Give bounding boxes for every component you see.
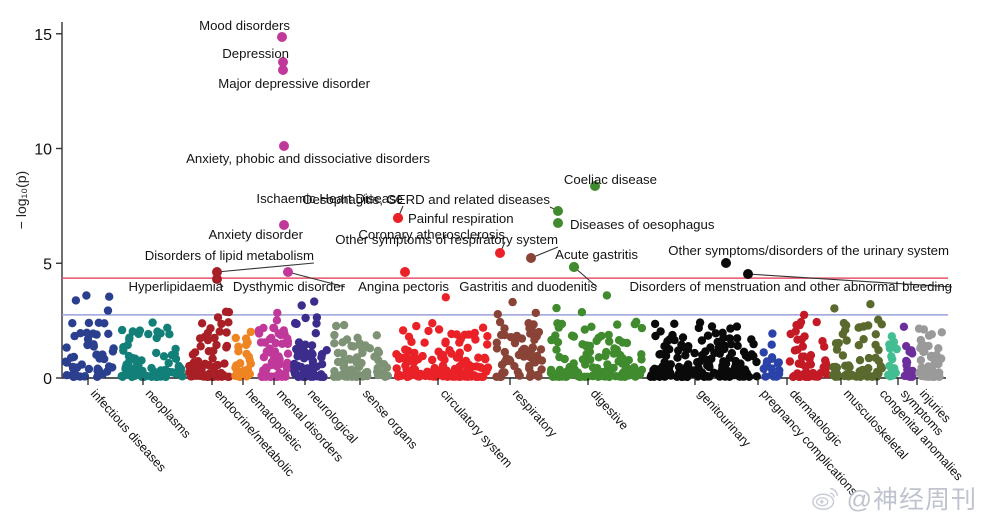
- data-point: [745, 373, 753, 381]
- category-points-pregnancy-complications: [760, 329, 784, 381]
- data-point: [885, 340, 893, 348]
- data-point: [294, 373, 302, 381]
- data-point: [334, 349, 342, 357]
- data-point: [673, 354, 681, 362]
- data-point: [309, 367, 317, 375]
- data-point: [257, 338, 265, 346]
- annotation-label-3: Anxiety, phobic and dissociative disorde…: [186, 151, 430, 166]
- data-point: [259, 324, 267, 332]
- data-point: [831, 363, 839, 371]
- y-tick-label: 0: [43, 371, 52, 388]
- annotation-label-11: Coronary atherosclerosis: [358, 227, 505, 242]
- category-points-hematopoietic: [231, 328, 255, 381]
- data-point: [363, 372, 371, 380]
- data-point: [301, 314, 309, 322]
- data-point: [78, 360, 86, 368]
- data-point: [877, 362, 885, 370]
- watermark: @神经周刊: [811, 480, 977, 516]
- data-point: [464, 344, 472, 352]
- data-point: [275, 329, 283, 337]
- data-point: [833, 345, 841, 353]
- data-point: [752, 358, 760, 366]
- data-point: [447, 330, 455, 338]
- annotated-data-point: [400, 267, 410, 277]
- data-point: [705, 361, 713, 369]
- data-point: [610, 344, 618, 352]
- data-point: [800, 311, 808, 319]
- data-point: [496, 318, 504, 326]
- data-point: [104, 306, 112, 314]
- data-point: [133, 360, 141, 368]
- data-point: [843, 370, 851, 378]
- data-point: [284, 350, 292, 358]
- annotation-label-6: Anxiety disorder: [208, 227, 303, 242]
- data-point: [171, 350, 179, 358]
- data-point: [437, 353, 445, 361]
- data-point: [310, 297, 318, 305]
- data-point: [554, 372, 562, 380]
- data-point: [856, 323, 864, 331]
- data-point: [525, 362, 533, 370]
- data-point: [330, 373, 338, 381]
- data-point: [428, 319, 436, 327]
- data-point: [675, 364, 683, 372]
- data-point: [558, 320, 566, 328]
- annotated-data-point: [721, 258, 731, 268]
- data-point: [583, 373, 591, 381]
- data-point: [152, 349, 160, 357]
- annotation-label-18: Gastritis and duodenitis: [459, 279, 597, 294]
- data-point: [839, 330, 847, 338]
- data-point: [415, 372, 423, 380]
- data-point: [552, 346, 560, 354]
- data-point: [768, 341, 776, 349]
- data-point: [93, 373, 101, 381]
- data-point: [797, 318, 805, 326]
- annotation-label-15: Hyperlipidaemia: [128, 279, 223, 294]
- data-point: [917, 356, 925, 364]
- annotated-data-point: [278, 65, 288, 75]
- data-point: [308, 350, 316, 358]
- data-point: [105, 293, 113, 301]
- annotated-data-point: [569, 262, 579, 272]
- data-point: [704, 332, 712, 340]
- data-point: [924, 342, 932, 350]
- data-point: [866, 300, 874, 308]
- data-point: [798, 353, 806, 361]
- category-points-endocrine-metabolic: [185, 308, 233, 381]
- data-point: [698, 368, 706, 376]
- data-point: [165, 330, 173, 338]
- data-point: [820, 343, 828, 351]
- data-point: [481, 355, 489, 363]
- category-points-genitourinary: [647, 318, 761, 381]
- data-point: [663, 337, 671, 345]
- data-point: [246, 370, 254, 378]
- data-point: [118, 373, 126, 381]
- annotation-label-5: Painful respiration: [408, 211, 514, 226]
- data-point: [284, 340, 292, 348]
- data-point: [148, 318, 156, 326]
- data-point: [625, 371, 633, 379]
- data-point: [472, 372, 480, 380]
- category-points-congenital-anomalies: [884, 332, 901, 380]
- annotation-label-13: Other symptoms/disorders of the urinary …: [668, 243, 949, 258]
- data-point: [405, 357, 413, 365]
- category-points-digestive: [547, 291, 646, 381]
- annotated-data-point: [277, 32, 287, 42]
- data-point: [661, 368, 669, 376]
- data-point: [500, 368, 508, 376]
- data-point: [281, 370, 289, 378]
- data-point: [501, 348, 509, 356]
- data-point: [273, 309, 281, 317]
- data-point: [266, 348, 274, 356]
- data-point: [206, 324, 214, 332]
- data-point: [291, 319, 299, 327]
- data-point: [578, 308, 586, 316]
- data-point: [916, 344, 924, 352]
- data-point: [323, 346, 331, 354]
- data-point: [196, 334, 204, 342]
- data-point: [124, 365, 132, 373]
- data-point: [435, 325, 443, 333]
- data-point: [605, 331, 613, 339]
- data-point: [734, 342, 742, 350]
- data-point: [728, 349, 736, 357]
- data-point: [138, 368, 146, 376]
- data-point: [601, 352, 609, 360]
- data-point: [125, 335, 133, 343]
- data-point: [90, 342, 98, 350]
- data-point: [105, 362, 113, 370]
- data-point: [616, 372, 624, 380]
- x-category-label-neoplasms: neoplasms: [143, 387, 194, 441]
- data-point: [775, 358, 783, 366]
- data-point: [679, 333, 687, 341]
- category-points-symptoms: [900, 323, 917, 381]
- annotation-label-7: Oesophagitis, GERD and related diseases: [302, 192, 550, 207]
- data-point: [670, 336, 678, 344]
- data-point: [348, 373, 356, 381]
- data-point: [862, 368, 870, 376]
- data-point: [222, 343, 230, 351]
- y-tick-label: 5: [43, 256, 52, 273]
- data-point: [893, 345, 901, 353]
- data-point: [623, 339, 631, 347]
- data-point: [374, 356, 382, 364]
- data-point: [418, 352, 426, 360]
- x-category-label-respiratory: respiratory: [510, 387, 560, 441]
- data-point: [410, 349, 418, 357]
- data-point: [70, 353, 78, 361]
- data-point: [85, 319, 93, 327]
- data-point: [576, 372, 584, 380]
- annotation-label-14: Disorders of lipid metabolism: [145, 248, 314, 263]
- data-point: [109, 344, 117, 352]
- y-axis-title: − log₁₀(p): [13, 171, 29, 229]
- data-point: [166, 368, 174, 376]
- data-point: [224, 373, 232, 381]
- data-point: [677, 341, 685, 349]
- data-point: [670, 320, 678, 328]
- data-point: [129, 327, 137, 335]
- annotated-data-point: [553, 218, 563, 228]
- data-point: [147, 373, 155, 381]
- data-point: [555, 353, 563, 361]
- data-point: [795, 373, 803, 381]
- annotated-data-point: [279, 141, 289, 151]
- manhattan-scatter-plot: 051015− log₁₀(p)infectious diseasesneopl…: [0, 0, 985, 522]
- data-point: [198, 319, 206, 327]
- data-point: [405, 372, 413, 380]
- data-point: [275, 355, 283, 363]
- data-point: [603, 291, 611, 299]
- data-point: [732, 357, 740, 365]
- data-point: [931, 358, 939, 366]
- data-point: [217, 320, 225, 328]
- data-point: [420, 339, 428, 347]
- data-point: [532, 309, 540, 317]
- data-point: [872, 330, 880, 338]
- data-point: [638, 324, 646, 332]
- weibo-logo-icon: [811, 483, 841, 513]
- category-points-musculoskeletal: [829, 300, 886, 381]
- data-point: [477, 364, 485, 372]
- x-category-label-circulatory-system: circulatory system: [438, 387, 515, 471]
- data-point: [442, 293, 450, 301]
- data-point: [786, 357, 794, 365]
- data-point: [424, 327, 432, 335]
- watermark-text: @神经周刊: [847, 480, 977, 516]
- data-point: [347, 342, 355, 350]
- data-point: [651, 320, 659, 328]
- data-point: [82, 291, 90, 299]
- data-point: [197, 342, 205, 350]
- data-point: [708, 322, 716, 330]
- data-point: [856, 356, 864, 364]
- data-point: [807, 351, 815, 359]
- annotation-label-1: Depression: [222, 46, 289, 61]
- data-point: [373, 331, 381, 339]
- annotation-label-12: Acute gastritis: [555, 247, 638, 262]
- data-point: [330, 339, 338, 347]
- data-point: [118, 326, 126, 334]
- data-point: [442, 370, 450, 378]
- data-point: [358, 349, 366, 357]
- data-point: [104, 330, 112, 338]
- data-point: [874, 346, 882, 354]
- data-point: [833, 370, 841, 378]
- data-point: [719, 357, 727, 365]
- x-category-label-sense-organs: sense organs: [360, 387, 421, 452]
- annotated-data-point: [495, 248, 505, 258]
- annotation-label-17: Angina pectoris: [358, 279, 449, 294]
- annotation-label-9: Diseases of oesophagus: [570, 217, 715, 232]
- data-point: [613, 320, 621, 328]
- data-point: [266, 373, 274, 381]
- data-point: [902, 342, 910, 350]
- data-point: [189, 350, 197, 358]
- data-point: [340, 321, 348, 329]
- annotated-data-point: [283, 267, 293, 277]
- data-point: [586, 348, 594, 356]
- data-point: [632, 318, 640, 326]
- data-point: [188, 370, 196, 378]
- annotated-data-point: [526, 253, 536, 263]
- data-point: [587, 323, 595, 331]
- annotation-label-19: Disorders of menstruation and other abno…: [629, 279, 952, 294]
- category-points-dermatologic: [786, 311, 831, 381]
- category-points-sense-organs: [330, 321, 392, 381]
- data-point: [902, 361, 910, 369]
- data-point: [68, 319, 76, 327]
- data-point: [357, 359, 365, 367]
- data-point: [340, 360, 348, 368]
- data-point: [224, 318, 232, 326]
- data-point: [497, 331, 505, 339]
- data-point: [552, 304, 560, 312]
- data-point: [513, 332, 521, 340]
- data-point: [332, 322, 340, 330]
- data-point: [864, 321, 872, 329]
- data-point: [273, 316, 281, 324]
- data-point: [399, 326, 407, 334]
- data-point: [95, 354, 103, 362]
- data-point: [753, 372, 761, 380]
- data-point: [494, 310, 502, 318]
- data-point: [601, 372, 609, 380]
- data-point: [775, 366, 783, 374]
- data-point: [537, 345, 545, 353]
- data-point: [511, 339, 519, 347]
- data-point: [934, 344, 942, 352]
- data-point: [767, 364, 775, 372]
- data-point: [465, 371, 473, 379]
- data-point: [246, 356, 254, 364]
- data-point: [637, 355, 645, 363]
- data-point: [196, 372, 204, 380]
- data-point: [374, 347, 382, 355]
- data-point: [175, 362, 183, 370]
- data-point: [813, 318, 821, 326]
- data-point: [194, 357, 202, 365]
- data-point: [441, 339, 449, 347]
- data-point: [871, 354, 879, 362]
- data-point: [683, 373, 691, 381]
- data-point: [768, 353, 776, 361]
- data-point: [412, 322, 420, 330]
- annotation-label-16: Dysthymic disorder: [233, 279, 346, 294]
- annotation-label-2: Major depressive disorder: [218, 76, 370, 91]
- data-point: [842, 321, 850, 329]
- data-point: [95, 319, 103, 327]
- data-point: [874, 316, 882, 324]
- data-point: [515, 371, 523, 379]
- annotations-layer: Mood disordersDepressionMajor depressive…: [128, 18, 952, 294]
- data-point: [714, 371, 722, 379]
- data-point: [479, 324, 487, 332]
- data-point: [530, 336, 538, 344]
- y-tick-label: 10: [34, 142, 52, 159]
- data-point: [337, 371, 345, 379]
- data-point: [62, 343, 70, 351]
- data-point: [293, 352, 301, 360]
- data-point: [222, 308, 230, 316]
- annotation-leader-line: [217, 263, 314, 272]
- data-point: [361, 341, 369, 349]
- data-point: [450, 369, 458, 377]
- annotation-label-8: Coeliac disease: [564, 172, 657, 187]
- data-point: [938, 328, 946, 336]
- category-points-neurological: [290, 297, 331, 381]
- data-point: [925, 331, 933, 339]
- category-points-infectious-diseases: [61, 291, 117, 381]
- data-point: [593, 364, 601, 372]
- data-point: [212, 341, 220, 349]
- data-point: [233, 366, 241, 374]
- annotated-data-point: [393, 213, 403, 223]
- data-point: [812, 372, 820, 380]
- data-point: [908, 349, 916, 357]
- data-point: [85, 365, 93, 373]
- data-point: [483, 340, 491, 348]
- data-point: [569, 332, 577, 340]
- data-point: [538, 356, 546, 364]
- data-point: [317, 353, 325, 361]
- data-point: [733, 322, 741, 330]
- data-point: [428, 356, 436, 364]
- data-point: [471, 329, 479, 337]
- data-point: [493, 339, 501, 347]
- phewas-plot-figure: 051015− log₁₀(p)infectious diseasesneopl…: [0, 0, 985, 522]
- data-point: [578, 340, 586, 348]
- x-category-label-genitourinary: genitourinary: [695, 387, 754, 451]
- data-point: [411, 365, 419, 373]
- data-point: [232, 334, 240, 342]
- data-point: [791, 346, 799, 354]
- data-point: [749, 340, 757, 348]
- data-point: [618, 354, 626, 362]
- data-point: [483, 332, 491, 340]
- annotation-label-0: Mood disorders: [199, 18, 290, 33]
- data-point: [458, 359, 466, 367]
- data-point: [736, 367, 744, 375]
- data-point: [474, 354, 482, 362]
- data-point: [733, 334, 741, 342]
- data-point: [153, 334, 161, 342]
- data-point: [906, 373, 914, 381]
- data-point: [69, 363, 77, 371]
- data-point: [719, 333, 727, 341]
- data-point: [647, 371, 655, 379]
- category-points-neoplasms: [118, 318, 187, 381]
- data-point: [144, 330, 152, 338]
- data-point: [547, 336, 555, 344]
- data-point: [594, 334, 602, 342]
- data-point: [830, 304, 838, 312]
- data-point: [461, 331, 469, 339]
- data-point: [72, 296, 80, 304]
- category-points-circulatory-system: [392, 293, 492, 381]
- data-point: [586, 356, 594, 364]
- data-point: [615, 336, 623, 344]
- data-point: [374, 371, 382, 379]
- data-point: [330, 331, 338, 339]
- annotated-data-point: [743, 269, 753, 279]
- data-point: [799, 342, 807, 350]
- data-point: [522, 348, 530, 356]
